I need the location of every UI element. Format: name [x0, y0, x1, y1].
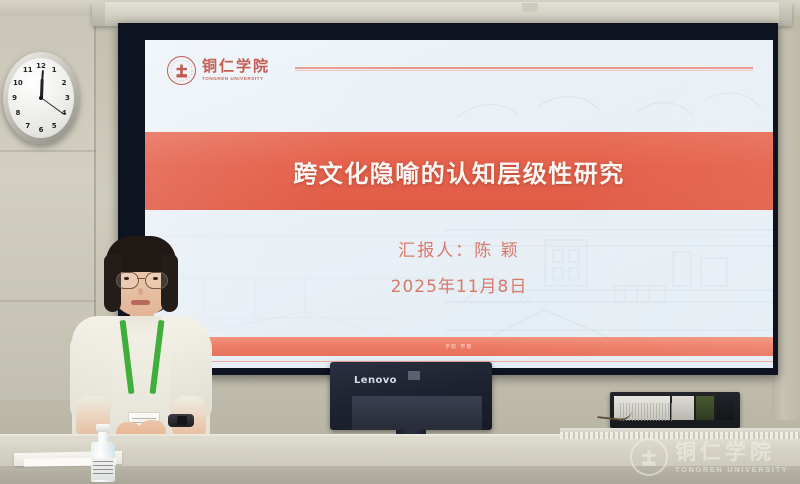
- header-rule-line-1: [295, 67, 753, 69]
- logo-english-name: TONGREN UNIVERSITY: [202, 77, 270, 82]
- slide-title: 跨文化隐喻的认知层级性研究: [293, 154, 625, 189]
- bottle-neck: [98, 431, 108, 442]
- lecture-room-scene: 铜仁学院 TONGREN UNIVERSITY 跨文化隐喻的认知层级性研究 汇报…: [0, 0, 800, 484]
- presenter-label: 汇报人：陈 颖: [398, 236, 519, 261]
- logo-chinese-name: 铜仁学院: [202, 59, 270, 74]
- wall-clock: 12 1 2 3 4 5 6 7 8 9 10 11: [3, 52, 79, 144]
- clock-numeral: 2: [62, 79, 67, 87]
- rack-unit-2: [672, 396, 694, 420]
- monitor-lower-panel: [352, 396, 482, 430]
- slide-title-band: 跨文化隐喻的认知层级性研究: [145, 132, 773, 210]
- bottle-body: [91, 442, 115, 482]
- clock-minute-hand: [40, 70, 44, 98]
- wristwatch: [168, 414, 194, 427]
- casing-bracket-left: [92, 0, 105, 26]
- eyeglass-lens-right: [145, 272, 168, 289]
- clock-numeral: 12: [36, 62, 46, 70]
- casing-bracket-right: [779, 0, 792, 26]
- rack-unit-4: [716, 396, 734, 420]
- header-divider-rule: [295, 67, 753, 71]
- bottle-label: [91, 458, 115, 480]
- corner-university-watermark: 铜仁学院 TONGREN UNIVERSITY: [630, 438, 788, 476]
- clock-numeral: 6: [39, 126, 44, 134]
- water-bottle: [91, 424, 115, 482]
- monitor-webcam-icon: [408, 371, 420, 380]
- clock-numeral: 5: [52, 122, 57, 130]
- seal-ring-marks: [168, 57, 195, 84]
- clock-numeral: 7: [25, 122, 30, 130]
- clock-second-hand: [41, 98, 64, 115]
- watermark-chinese-name: 铜仁学院: [675, 441, 788, 462]
- wall-seam-horizontal-upper: [0, 150, 96, 152]
- university-seal-icon: [630, 438, 668, 476]
- eyeglass-lens-left: [116, 272, 139, 289]
- rack-unit-3: [696, 396, 714, 420]
- monitor-screen: Lenovo: [330, 362, 492, 430]
- watermark-english-name: TONGREN UNIVERSITY: [675, 466, 788, 474]
- eyeglass-bridge: [137, 278, 145, 279]
- slide-presenter-block: 汇报人：陈 颖 2025年11月8日: [145, 236, 773, 297]
- monitor-brand-label: Lenovo: [354, 375, 397, 386]
- presentation-slide: 铜仁学院 TONGREN UNIVERSITY 跨文化隐喻的认知层级性研究 汇报…: [145, 40, 773, 368]
- clock-numeral: 8: [15, 109, 20, 117]
- university-seal-icon: [167, 56, 196, 85]
- eyeglasses-icon: [114, 272, 168, 287]
- bottle-label-text: [93, 461, 113, 476]
- presentation-date: 2025年11月8日: [391, 272, 528, 297]
- clock-face: 12 1 2 3 4 5 6 7 8 9 10 11: [8, 58, 74, 138]
- clock-numeral: 11: [23, 66, 33, 74]
- header-rule-line-2: [295, 70, 753, 71]
- clock-numeral: 3: [65, 94, 70, 102]
- clock-center-pin: [39, 96, 43, 100]
- slide-university-logo: 铜仁学院 TONGREN UNIVERSITY: [167, 56, 270, 85]
- presenter-nose: [138, 288, 143, 295]
- clock-numeral: 1: [52, 66, 57, 74]
- clock-numeral: 10: [13, 79, 23, 87]
- bottle-cap: [96, 424, 110, 432]
- slide-footer-bar: 学院·学院: [145, 337, 773, 356]
- casing-tab: [522, 3, 538, 12]
- wristwatch-face: [177, 416, 187, 425]
- presenter-mouth: [131, 300, 150, 305]
- clock-numeral: 9: [12, 94, 17, 102]
- footer-text: 学院·学院: [445, 344, 473, 350]
